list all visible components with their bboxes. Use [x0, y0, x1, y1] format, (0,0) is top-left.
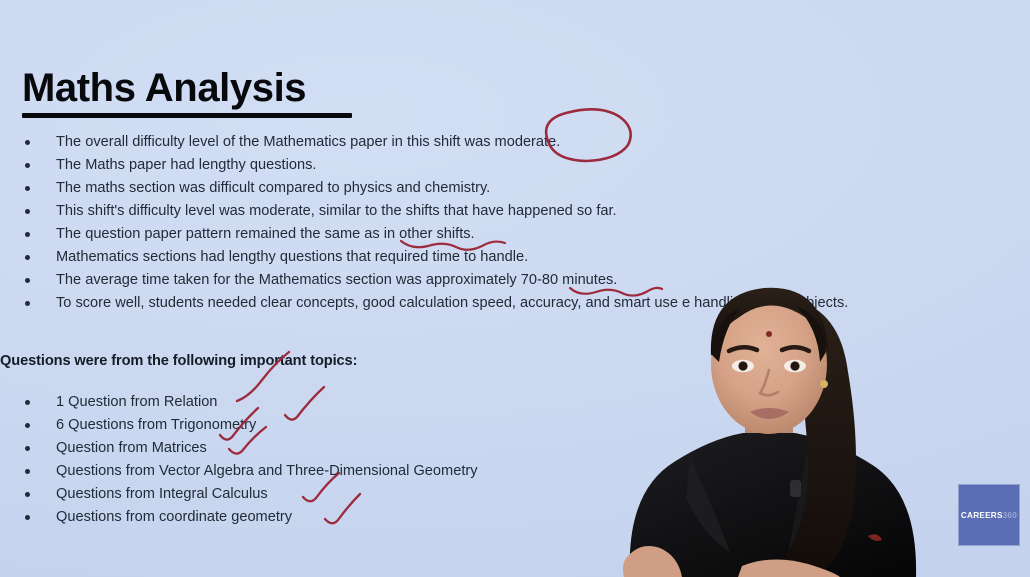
topic-text: 6 Questions from Trigonometry	[56, 417, 256, 433]
title-underline	[22, 113, 352, 118]
bullet-text: The question paper pattern remained the …	[56, 226, 475, 242]
list-item: This shift's difficulty level was modera…	[0, 200, 1010, 222]
hoodie-body	[630, 433, 916, 577]
pupil-left	[738, 361, 747, 370]
careers360-watermark-logo: CAREERS360	[958, 484, 1020, 546]
lapel-microphone	[790, 480, 801, 497]
bullet-text: The Maths paper had lengthy questions.	[56, 157, 316, 173]
list-item: Questions from Vector Algebra and Three-…	[0, 460, 620, 483]
topic-text: Questions from Vector Algebra and Three-…	[56, 463, 478, 479]
logo-brand: CAREERS	[961, 511, 1003, 520]
bullet-text: The overall difficulty level of the Math…	[56, 134, 560, 150]
list-item: 6 Questions from Trigonometry	[0, 414, 620, 437]
list-item: Question from Matrices	[0, 437, 620, 460]
list-item: The Maths paper had lengthy questions.	[0, 154, 1010, 176]
page-title: Maths Analysis	[22, 68, 362, 108]
list-item: The maths section was difficult compared…	[0, 177, 1010, 199]
list-item: Questions from Integral Calculus	[0, 483, 620, 506]
topic-text: Question from Matrices	[56, 440, 207, 456]
bullet-text: This shift's difficulty level was modera…	[56, 203, 617, 219]
topics-bullet-list: 1 Question from Relation 6 Questions fro…	[0, 391, 620, 529]
topic-text: 1 Question from Relation	[56, 394, 217, 410]
topic-text: Questions from Integral Calculus	[56, 486, 268, 502]
bullet-text: The average time taken for the Mathemati…	[56, 272, 617, 288]
list-item: The overall difficulty level of the Math…	[0, 131, 1010, 153]
list-item: Questions from coordinate geometry	[0, 506, 620, 529]
earring	[820, 380, 828, 388]
bullet-text: The maths section was difficult compared…	[56, 180, 490, 196]
title-block: Maths Analysis	[22, 68, 362, 118]
pupil-right	[790, 361, 799, 370]
logo-text: CAREERS360	[961, 511, 1017, 520]
bullet-text: Mathematics sections had lengthy questio…	[56, 249, 528, 265]
slide-canvas: Maths Analysis The overall difficulty le…	[0, 0, 1030, 577]
logo-suffix: 360	[1003, 511, 1017, 520]
list-item: 1 Question from Relation	[0, 391, 620, 414]
bindi	[766, 331, 772, 337]
topic-text: Questions from coordinate geometry	[56, 509, 292, 525]
topics-heading: Questions were from the following import…	[0, 353, 357, 369]
